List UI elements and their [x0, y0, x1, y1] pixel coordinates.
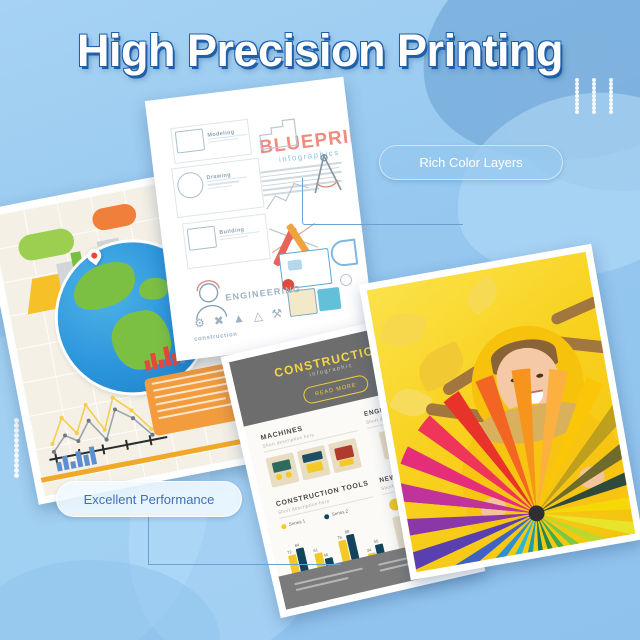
- callout-rich-color-label: Rich Color Layers: [419, 155, 522, 170]
- leader-line-rich-color: [302, 178, 463, 225]
- callout-excellent-performance[interactable]: Excellent Performance: [56, 481, 242, 517]
- compass-glyph-icon: △: [253, 308, 264, 323]
- bar-value-C-2: 88: [344, 529, 349, 535]
- circle-outline-icon: [339, 273, 352, 286]
- machine-card-3: [328, 438, 362, 474]
- umbrella-hub: [527, 504, 546, 523]
- blueprint-step-chart: [256, 111, 316, 152]
- blueprint-tools-illustration: [273, 213, 375, 321]
- gear-icon: ⚙: [193, 316, 205, 331]
- protractor-icon: [329, 239, 358, 268]
- window-icon: [317, 287, 342, 312]
- blueprint-icon-modeling: [175, 128, 205, 153]
- bar-value-D-2: 50: [373, 538, 378, 544]
- promo-banner: BLUEPRINT infographics Modeling Drawing: [0, 0, 640, 640]
- callout-rich-color-layers[interactable]: Rich Color Layers: [379, 145, 563, 180]
- machine-card-2: [297, 445, 331, 481]
- bar-value-D-1: 34: [366, 547, 371, 553]
- blueprint-section-construction: construction: [194, 332, 238, 343]
- wrench-icon: ✖: [213, 313, 225, 328]
- blueprint-icon-drawing: [176, 171, 205, 200]
- decor-dot-grid-right: [575, 78, 626, 114]
- leader-line-excellent-performance: [148, 515, 341, 565]
- ruler-glyph-icon: ▲: [232, 311, 246, 326]
- page-title: High Precision Printing: [0, 28, 640, 73]
- blueprint-icon-building: [187, 226, 217, 251]
- machine-card-1: [266, 452, 300, 488]
- photo-body: [367, 252, 635, 572]
- callout-excellent-performance-label: Excellent Performance: [84, 492, 215, 507]
- blueprint-sheet-detail: [287, 259, 302, 271]
- hammer-icon: ⚒: [271, 306, 283, 321]
